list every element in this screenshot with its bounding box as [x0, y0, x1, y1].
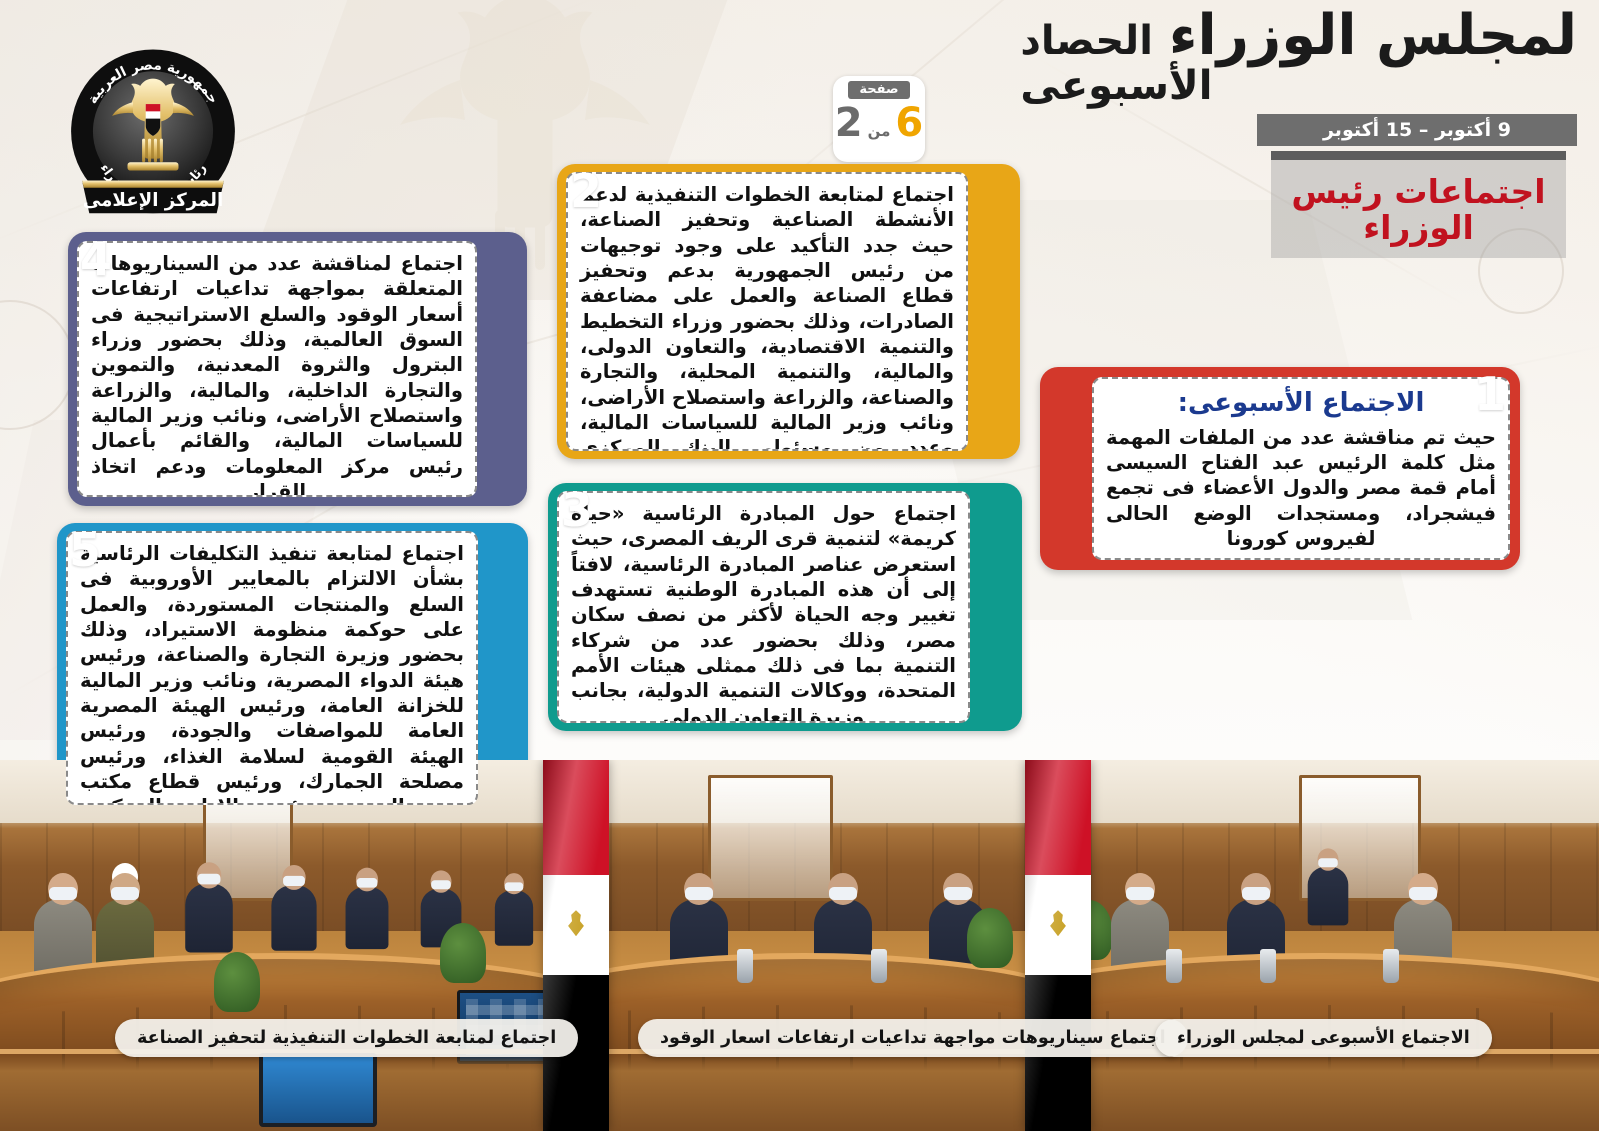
card-inner-5: اجتماع لمتابعة تنفيذ التكليفات الرئاسية …: [66, 531, 478, 805]
card-number-2: 2: [570, 168, 602, 214]
page-title-kicker: الحصاد: [1020, 21, 1153, 61]
card-inner-4: اجتماع لمناقشة عدد من السيناريوهات المتع…: [77, 241, 477, 497]
card-number-5: 5: [69, 527, 101, 573]
page-of-label: من: [868, 122, 891, 140]
logo-ribbon-text: المركز الإعلامى: [83, 190, 223, 211]
card-body-3: اجتماع حول المبادرة الرئاسية «حياة كريمة…: [559, 493, 968, 723]
page-title-subline: الأسبوعى: [1020, 66, 1212, 106]
page-title-main: لمجلس الوزراء: [1169, 8, 1577, 64]
section-title-line-1: اجتماعات رئيس: [1291, 174, 1545, 210]
photo-caption-2-text: اجتماع سيناريوهات مواجهة تداعيات ارتفاعا…: [660, 1028, 1166, 1048]
infographic-page: جمهورية مصر العربية رئاسة مجلس الوزراء ا…: [0, 0, 1599, 1131]
card-inner-2: اجتماع لمتابعة الخطوات التنفيذية لدعم ال…: [566, 172, 968, 451]
section-title-line-2: الوزراء: [1363, 210, 1474, 246]
meeting-photo-1: [1044, 760, 1599, 1131]
card-body-4: اجتماع لمناقشة عدد من السيناريوهات المتع…: [79, 243, 475, 497]
egypt-flag-divider: [543, 760, 609, 1131]
meeting-card-5[interactable]: 5 اجتماع لمتابعة تنفيذ التكليفات الرئاسي…: [57, 523, 528, 813]
photo-strip: [0, 760, 1599, 1131]
page-total-number: 6: [895, 100, 923, 146]
meeting-room-scene: [1044, 760, 1599, 1131]
photo-caption-1-text: اجتماع لمتابعة الخطوات التنفيذية لتحفيز …: [137, 1028, 556, 1048]
meeting-card-1[interactable]: 1 الاجتماع الأسبوعى: حيث تم مناقشة عدد م…: [1040, 367, 1520, 570]
card-inner-3: اجتماع حول المبادرة الرئاسية «حياة كريمة…: [557, 491, 970, 723]
meeting-card-2[interactable]: 2 اجتماع لمتابعة الخطوات التنفيذية لدعم …: [557, 164, 1020, 459]
page-current-number: 2: [835, 100, 863, 146]
card-body-1: حيث تم مناقشة عدد من الملفات المهمة مثل …: [1106, 425, 1496, 552]
card-number-3: 3: [561, 487, 593, 533]
card-inner-1: الاجتماع الأسبوعى: حيث تم مناقشة عدد من …: [1092, 377, 1510, 560]
card-number-4: 4: [80, 236, 112, 282]
card-number-1: 1: [1474, 371, 1506, 417]
meeting-card-4[interactable]: 4 اجتماع لمناقشة عدد من السيناريوهات الم…: [68, 232, 527, 506]
date-range-bar: 9 أكتوبر – 15 أكتوبر: [1257, 114, 1577, 146]
meeting-photo-3: [0, 760, 564, 1131]
page-indicator-numbers: 6 من 2: [835, 100, 923, 146]
photo-caption-3-text: الاجتماع الأسبوعى لمجلس الوزراء: [1177, 1028, 1470, 1048]
meeting-photo-2: [564, 760, 1044, 1131]
card-body-5: اجتماع لمتابعة تنفيذ التكليفات الرئاسية …: [68, 533, 476, 805]
page-indicator-label: صفحة: [848, 81, 909, 99]
card-content-1: الاجتماع الأسبوعى: حيث تم مناقشة عدد من …: [1094, 379, 1508, 560]
section-title-panel: اجتماعات رئيس الوزراء: [1271, 151, 1566, 258]
meeting-room-scene: [0, 760, 564, 1131]
meeting-card-3[interactable]: 3 اجتماع حول المبادرة الرئاسية «حياة كري…: [548, 483, 1022, 731]
card-body-2: اجتماع لمتابعة الخطوات التنفيذية لدعم ال…: [568, 174, 966, 451]
laptop-screen: [259, 1053, 377, 1127]
page-indicator-badge: صفحة 6 من 2: [833, 76, 925, 162]
egypt-flag-divider: [1025, 760, 1091, 1131]
date-range-text: 9 أكتوبر – 15 أكتوبر: [1323, 119, 1511, 141]
card-heading-1: الاجتماع الأسبوعى:: [1106, 387, 1496, 421]
cabinet-media-center-logo: جمهورية مصر العربية رئاسة مجلس الوزراء ا…: [62, 44, 244, 226]
photo-caption-2: اجتماع سيناريوهات مواجهة تداعيات ارتفاعا…: [638, 1019, 1188, 1057]
photo-caption-3: الاجتماع الأسبوعى لمجلس الوزراء: [1155, 1019, 1492, 1057]
meeting-room-scene: [564, 760, 1044, 1131]
photo-caption-1: اجتماع لمتابعة الخطوات التنفيذية لتحفيز …: [115, 1019, 578, 1057]
header-title-block: لمجلس الوزراء الحصاد الأسبوعى: [1020, 8, 1577, 106]
